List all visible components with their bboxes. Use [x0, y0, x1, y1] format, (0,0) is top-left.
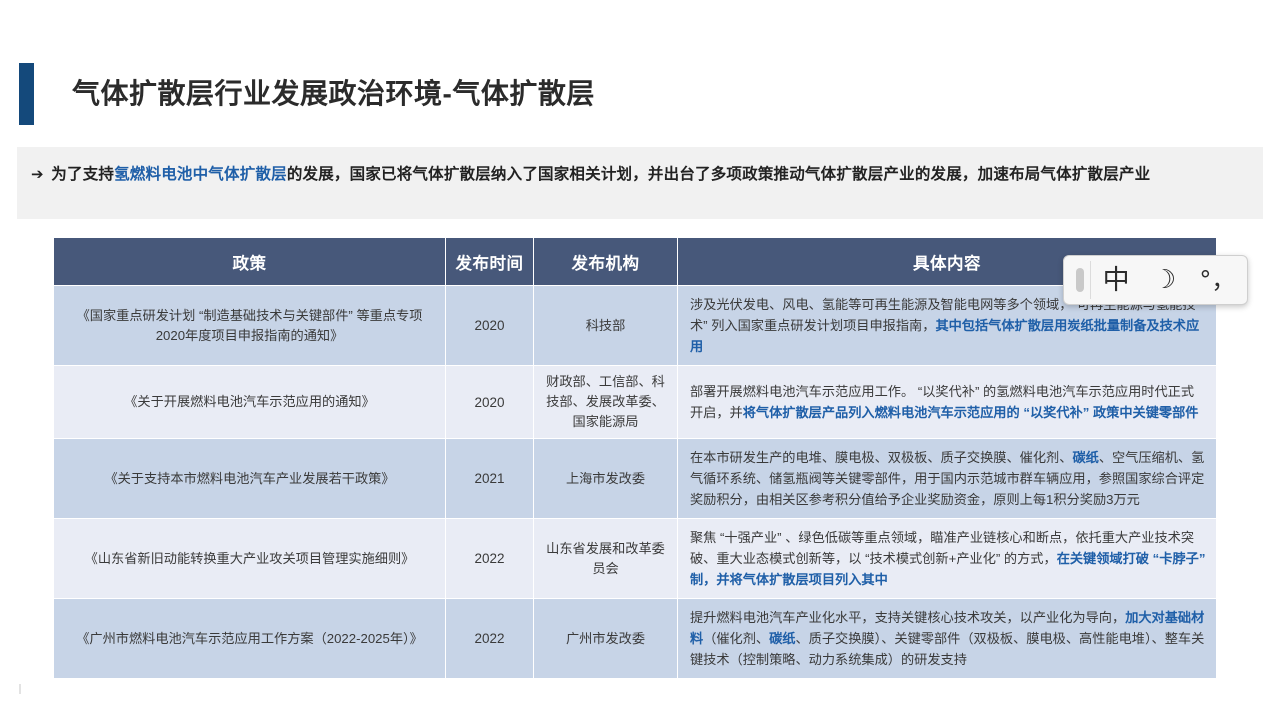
- drag-handle-icon[interactable]: [1076, 268, 1084, 292]
- cell-date: 2021: [446, 439, 534, 519]
- cell-policy: 《山东省新旧动能转换重大产业攻关项目管理实施细则》: [54, 519, 446, 599]
- table-row: 《关于支持本市燃料电池汽车产业发展若干政策》 2021 上海市发改委 在本市研发…: [54, 439, 1217, 519]
- column-header-date: 发布时间: [446, 238, 534, 286]
- left-edge-tick: [19, 684, 21, 694]
- crescent-moon-icon[interactable]: ☽: [1141, 267, 1188, 293]
- page-title: 气体扩散层行业发展政治环境-气体扩散层: [72, 72, 595, 112]
- content-plain: 提升燃料电池汽车产业化水平，支持关键核心技术攻关，以产业化为导向，: [690, 610, 1125, 625]
- cell-org: 财政部、工信部、科技部、发展改革委、国家能源局: [534, 366, 678, 439]
- policy-table: 政策 发布时间 发布机构 具体内容 《国家重点研发计划 “制造基础技术与关键部件…: [53, 237, 1217, 679]
- subtitle-segment-1-highlight: 氢燃料电池中气体扩散层: [114, 166, 287, 183]
- cell-date: 2022: [446, 599, 534, 679]
- arrow-right-icon: ➔: [31, 166, 44, 183]
- table-row: 《山东省新旧动能转换重大产业攻关项目管理实施细则》 2022 山东省发展和改革委…: [54, 519, 1217, 599]
- cell-org: 广州市发改委: [534, 599, 678, 679]
- cell-content: 聚焦 “十强产业” 、绿色低碳等重点领域，瞄准产业链核心和断点，依托重大产业技术…: [678, 519, 1217, 599]
- content-tail: （催化剂、: [703, 631, 769, 646]
- ime-floating-toolbar[interactable]: 中 ☽ °，: [1063, 255, 1248, 305]
- title-accent-bar: [19, 63, 34, 125]
- cell-org: 上海市发改委: [534, 439, 678, 519]
- content-bold: 碳纸: [1072, 450, 1098, 465]
- cell-content: 部署开展燃料电池汽车示范应用工作。 “以奖代补” 的氢燃料电池汽车示范应用时代正…: [678, 366, 1217, 439]
- table-row: 《关于开展燃料电池汽车示范应用的通知》 2020 财政部、工信部、科技部、发展改…: [54, 366, 1217, 439]
- subtitle-band: ➔ 为了支持氢燃料电池中气体扩散层的发展，国家已将气体扩散层纳入了国家相关计划，…: [17, 147, 1263, 219]
- content-bold-2: 碳纸: [769, 631, 795, 646]
- column-header-org: 发布机构: [534, 238, 678, 286]
- chinese-mode-icon[interactable]: 中: [1091, 267, 1141, 294]
- cell-date: 2022: [446, 519, 534, 599]
- cell-org: 山东省发展和改革委员会: [534, 519, 678, 599]
- cell-org: 科技部: [534, 286, 678, 366]
- content-plain: 在本市研发生产的电堆、膜电极、双极板、质子交换膜、催化剂、: [690, 450, 1072, 465]
- subtitle-segment-2: 的发展，国家已将气体扩散层纳入了国家相关计划，并出台了多项政策推动气体扩散层产业…: [287, 166, 1151, 183]
- cell-date: 2020: [446, 286, 534, 366]
- table-row: 《国家重点研发计划 “制造基础技术与关键部件” 等重点专项2020年度项目申报指…: [54, 286, 1217, 366]
- cell-policy: 《关于开展燃料电池汽车示范应用的通知》: [54, 366, 446, 439]
- table-row: 《广州市燃料电池汽车示范应用工作方案（2022-2025年）》 2022 广州市…: [54, 599, 1217, 679]
- cell-content: 提升燃料电池汽车产业化水平，支持关键核心技术攻关，以产业化为导向，加大对基础材料…: [678, 599, 1217, 679]
- punctuation-toggle-icon[interactable]: °，: [1188, 268, 1247, 292]
- cell-policy: 《国家重点研发计划 “制造基础技术与关键部件” 等重点专项2020年度项目申报指…: [54, 286, 446, 366]
- table-header-row: 政策 发布时间 发布机构 具体内容: [54, 238, 1217, 286]
- subtitle-text: ➔ 为了支持氢燃料电池中气体扩散层的发展，国家已将气体扩散层纳入了国家相关计划，…: [31, 159, 1249, 190]
- subtitle-segment-0: 为了支持: [51, 166, 114, 183]
- cell-policy: 《关于支持本市燃料电池汽车产业发展若干政策》: [54, 439, 446, 519]
- cell-policy: 《广州市燃料电池汽车示范应用工作方案（2022-2025年）》: [54, 599, 446, 679]
- column-header-policy: 政策: [54, 238, 446, 286]
- cell-content: 在本市研发生产的电堆、膜电极、双极板、质子交换膜、催化剂、碳纸、空气压缩机、氢气…: [678, 439, 1217, 519]
- content-bold: 将气体扩散层产品列入燃料电池汽车示范应用的 “以奖代补” 政策中关键零部件: [743, 405, 1199, 420]
- cell-date: 2020: [446, 366, 534, 439]
- slide-header: 气体扩散层行业发展政治环境-气体扩散层: [0, 56, 1280, 140]
